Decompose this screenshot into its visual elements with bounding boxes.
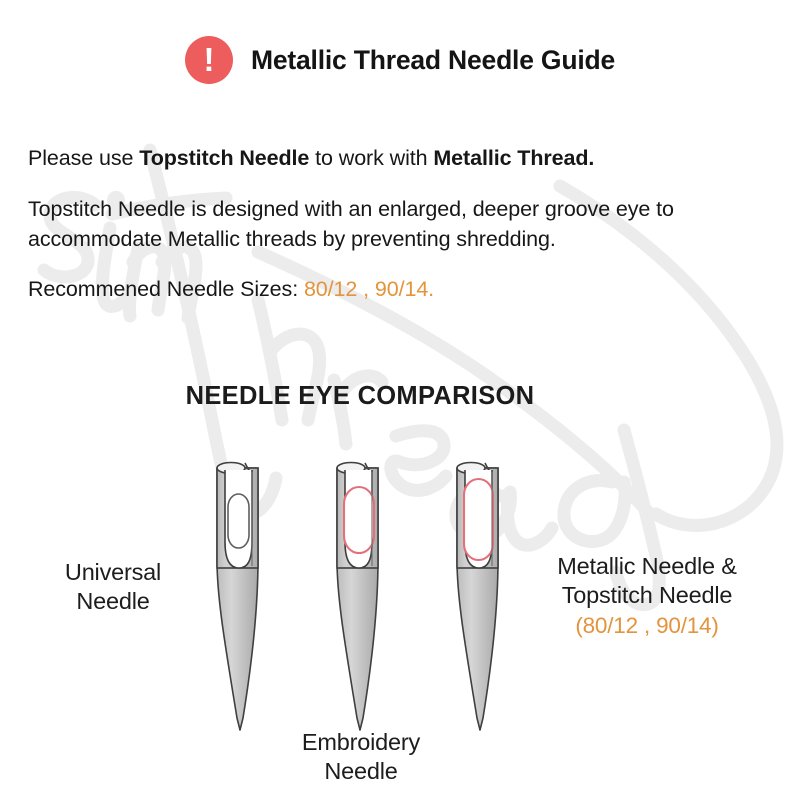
description-paragraph: Topstitch Needle is designed with an enl… [28, 194, 780, 254]
intro-text-a: Please use [28, 146, 139, 170]
recommended-sizes-value: 80/12 , 90/14. [304, 277, 434, 301]
page-title: Metallic Thread Needle Guide [251, 45, 615, 76]
needle-embroidery-blade [337, 468, 378, 730]
needle-label-embroidery-line1: Embroidery [302, 729, 420, 755]
needle-label-metallic-line1: Metallic Needle & [557, 553, 736, 579]
needle-embroidery [337, 463, 378, 731]
alert-icon-glyph: ! [203, 43, 214, 76]
intro-metallic-thread: Metallic Thread. [433, 146, 594, 170]
needle-metallic-blade [457, 468, 498, 730]
needle-metallic-eye [464, 479, 493, 560]
recommended-sizes-label: Recommened Needle Sizes: [28, 277, 304, 301]
needle-universal-blade [217, 468, 258, 730]
diagram-heading: NEEDLE EYE COMPARISON [0, 382, 720, 411]
needle-embroidery-shank-top [337, 463, 365, 474]
needle-label-metallic-line2: Topstitch Needle [562, 582, 733, 608]
alert-exclamation-icon: ! [185, 36, 233, 84]
needle-label-universal-line2: Needle [76, 588, 149, 614]
needle-embroidery-notch [365, 463, 372, 474]
needle-metallic-shaft [457, 468, 498, 568]
needle-label-metallic-sizes: (80/12 , 90/14) [512, 612, 782, 641]
recommended-sizes-line: Recommened Needle Sizes: 80/12 , 90/14. [28, 274, 780, 304]
guide-header: ! Metallic Thread Needle Guide [0, 36, 800, 84]
needle-metallic-groove [465, 470, 492, 568]
needle-universal-notch [245, 463, 252, 474]
needle-universal-eye [228, 494, 249, 548]
needle-universal [217, 463, 258, 731]
needle-label-universal: Universal Needle [18, 558, 208, 615]
needle-universal-shaft [217, 468, 258, 568]
needle-universal-groove [225, 470, 252, 568]
guide-copy: Please use Topstitch Needle to work with… [28, 143, 780, 324]
needle-metallic-notch [485, 463, 492, 474]
needle-label-embroidery-line2: Needle [324, 758, 397, 784]
intro-topstitch-needle: Topstitch Needle [139, 146, 309, 170]
needle-embroidery-shaft [337, 468, 378, 568]
needle-label-embroidery: Embroidery Needle [250, 728, 472, 785]
needle-embroidery-groove [345, 470, 372, 568]
needle-metallic-shank-top [457, 463, 485, 474]
needle-universal-shank-top [217, 463, 245, 474]
needle-embroidery-eye [344, 487, 374, 553]
needle-metallic-topstitch [457, 463, 498, 731]
needle-label-metallic-topstitch: Metallic Needle & Topstitch Needle (80/1… [512, 552, 782, 641]
needle-label-universal-line1: Universal [65, 559, 161, 585]
intro-text-c: to work with [309, 146, 433, 170]
intro-sentence: Please use Topstitch Needle to work with… [28, 143, 780, 173]
